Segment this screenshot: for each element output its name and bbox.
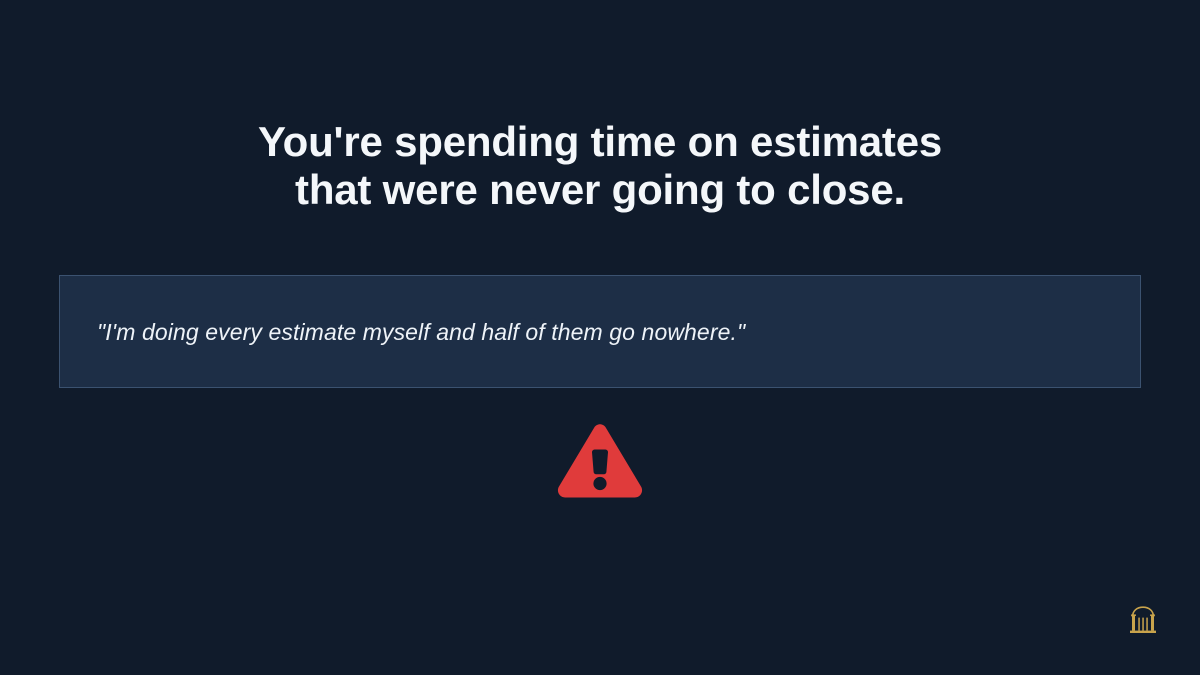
classical-building-logo xyxy=(1125,604,1161,640)
headline-line-1: You're spending time on estimates xyxy=(60,118,1140,166)
quote-card: "I'm doing every estimate myself and hal… xyxy=(59,275,1141,388)
warning-triangle-icon xyxy=(556,423,644,501)
quote-text: "I'm doing every estimate myself and hal… xyxy=(60,317,775,347)
slide-canvas: You're spending time on estimates that w… xyxy=(0,0,1200,675)
page-title: You're spending time on estimates that w… xyxy=(0,118,1200,214)
headline-line-2: that were never going to close. xyxy=(60,166,1140,214)
